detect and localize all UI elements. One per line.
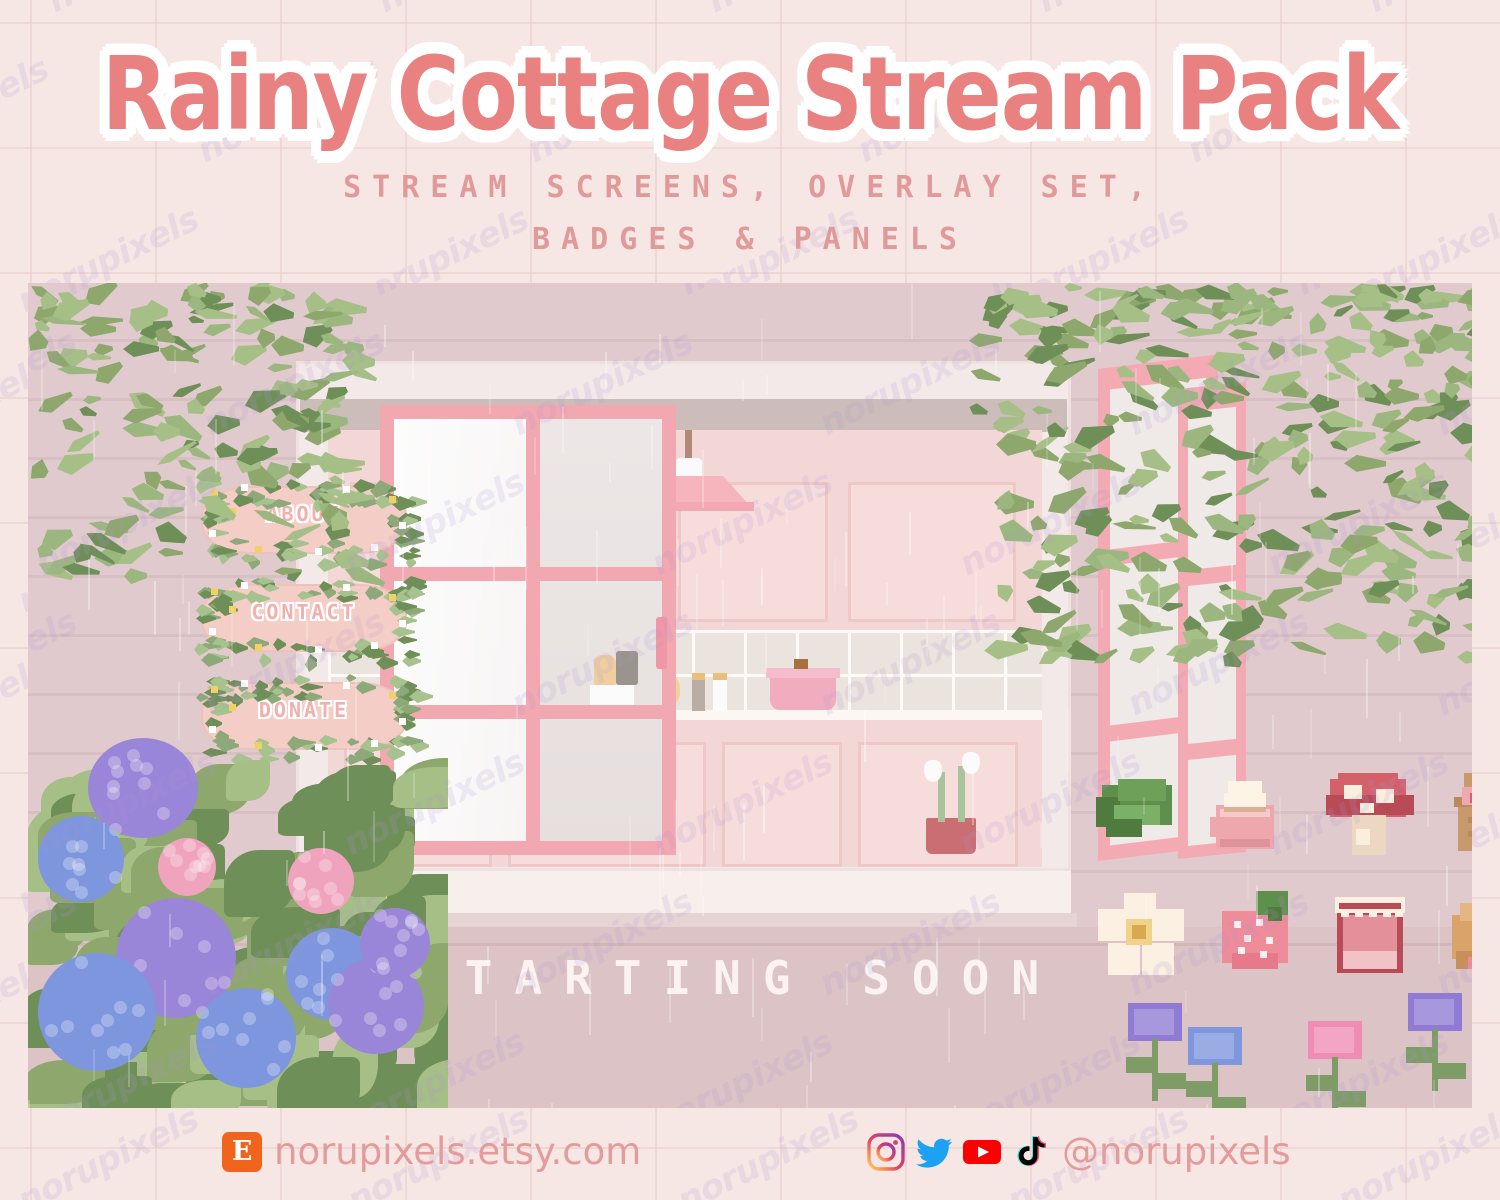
- footer: E norupixels.etsy.com: [0, 1112, 1500, 1200]
- rain-drop: [551, 1103, 553, 1108]
- rain-drop: [700, 855, 702, 894]
- rain-drop: [763, 784, 765, 833]
- rain-drop: [834, 558, 836, 591]
- rain-drop: [936, 938, 938, 996]
- rain-drop: [1457, 543, 1459, 578]
- rain-drop: [342, 472, 344, 494]
- rain-drop: [1412, 576, 1414, 594]
- rain-drop: [174, 350, 176, 373]
- instagram-icon[interactable]: [866, 1132, 906, 1172]
- rain-drop: [28, 1100, 30, 1108]
- rain-drop: [1310, 709, 1312, 759]
- rain-drop: [1139, 557, 1141, 591]
- rain-drop: [215, 419, 217, 474]
- rain-drop: [1027, 502, 1029, 527]
- rain-drop: [185, 486, 187, 534]
- rain-drop: [195, 471, 197, 506]
- rain-drop: [286, 860, 288, 886]
- rain-drop: [321, 955, 323, 1016]
- rain-drop: [943, 595, 945, 639]
- rain-drop: [525, 527, 527, 590]
- twitter-icon[interactable]: [914, 1132, 954, 1172]
- rain-drop: [169, 914, 171, 947]
- rain-drop: [489, 384, 491, 414]
- rain-drop: [488, 1099, 490, 1108]
- rain-drop: [412, 351, 414, 380]
- rain-drop: [742, 380, 744, 401]
- subtitle-line-2: BADGES & PANELS: [0, 222, 1500, 257]
- poster-root: norupixelsnorupixelsnorupixelsnorupixels…: [0, 0, 1500, 1200]
- rain-drop: [786, 495, 788, 525]
- rain-drop: [975, 571, 977, 621]
- rain-drop: [713, 806, 715, 851]
- rain-drop: [355, 679, 357, 741]
- rain-drop: [1300, 312, 1302, 365]
- rain-drop: [1006, 666, 1008, 696]
- rain-drop: [1256, 888, 1258, 917]
- rain-drop: [1157, 667, 1159, 710]
- rain-drop: [103, 823, 105, 849]
- rain-drop: [761, 568, 763, 605]
- subtitle-line-1: STREAM SCREENS, OVERLAY SET,: [0, 170, 1500, 205]
- rain-drop: [886, 583, 888, 605]
- etsy-shop-url[interactable]: norupixels.etsy.com: [274, 1130, 641, 1173]
- rain-drop: [384, 325, 386, 347]
- rain-overlay: [28, 283, 1472, 1108]
- rain-drop: [323, 831, 325, 854]
- rain-drop: [972, 767, 974, 825]
- rain-drop: [810, 1052, 812, 1082]
- rain-drop: [1247, 863, 1249, 899]
- rain-drop: [1067, 707, 1069, 770]
- rain-drop: [1253, 438, 1255, 465]
- rain-drop: [629, 815, 631, 873]
- rain-drop: [154, 581, 156, 635]
- rain-drop: [1438, 910, 1440, 964]
- rain-drop: [402, 546, 404, 581]
- rain-drop: [1446, 866, 1448, 906]
- rain-drop: [1143, 797, 1145, 815]
- rain-drop: [231, 607, 233, 666]
- rain-drop: [845, 532, 847, 586]
- rain-drop: [1101, 590, 1103, 628]
- rain-drop: [1355, 373, 1357, 430]
- rain-drop: [659, 334, 661, 365]
- rain-drop: [980, 605, 982, 642]
- rain-drop: [926, 618, 928, 656]
- rain-drop: [662, 855, 664, 887]
- rain-drop: [702, 896, 704, 916]
- rain-drop: [1185, 991, 1187, 1013]
- rain-drop: [1318, 1068, 1320, 1097]
- rain-drop: [1324, 655, 1326, 674]
- rain-drop: [765, 630, 767, 672]
- rain-drop: [511, 525, 513, 563]
- rain-drop: [1135, 368, 1137, 407]
- rain-drop: [743, 804, 745, 861]
- rain-drop: [1261, 308, 1263, 327]
- rain-drop: [178, 681, 180, 740]
- rain-drop: [306, 619, 308, 674]
- rain-drop: [93, 420, 95, 460]
- rain-drop: [864, 710, 866, 762]
- rain-drop: [41, 350, 43, 410]
- rain-drop: [605, 352, 607, 393]
- rain-drop: [609, 463, 611, 482]
- rain-drop: [413, 773, 415, 798]
- rain-drop: [373, 811, 375, 862]
- stream-scene-preview: ♥: [28, 283, 1472, 1108]
- rain-drop: [1366, 659, 1368, 718]
- rain-drop: [1099, 291, 1101, 352]
- rain-drop: [884, 675, 886, 703]
- rain-drop: [1145, 895, 1147, 920]
- rain-drop: [995, 349, 997, 374]
- rain-drop: [1040, 823, 1042, 848]
- rain-drop: [1265, 542, 1267, 602]
- rain-drop: [233, 304, 235, 365]
- rain-drop: [722, 580, 724, 626]
- rain-drop: [1306, 379, 1308, 401]
- rain-drop: [1158, 568, 1160, 614]
- rain-drop: [1092, 463, 1094, 489]
- rain-drop: [534, 437, 536, 475]
- rain-drop: [347, 748, 349, 801]
- rain-drop: [182, 575, 184, 604]
- rain-drop: [846, 964, 848, 1005]
- rain-drop: [495, 1000, 497, 1044]
- rain-drop: [1306, 815, 1308, 854]
- rain-drop: [1046, 414, 1048, 468]
- rain-drop: [93, 1049, 95, 1081]
- rain-drop: [1427, 767, 1429, 827]
- rain-drop: [761, 319, 763, 360]
- rain-drop: [1272, 715, 1274, 749]
- rain-drop: [321, 410, 323, 448]
- rain-drop: [1327, 364, 1329, 401]
- rain-drop: [164, 980, 166, 1026]
- rain-drop: [500, 802, 502, 839]
- rain-drop: [675, 800, 677, 838]
- rain-drop: [954, 1105, 956, 1108]
- rain-drop: [516, 694, 518, 755]
- rain-drop: [1398, 637, 1400, 661]
- rain-drop: [1308, 461, 1310, 484]
- rain-drop: [909, 512, 911, 555]
- rain-drop: [696, 574, 698, 632]
- rain-drop: [88, 559, 90, 610]
- rain-drop: [179, 618, 181, 651]
- youtube-icon[interactable]: [962, 1132, 1002, 1172]
- rain-drop: [1259, 502, 1261, 543]
- rain-drop: [1159, 378, 1161, 424]
- rain-drop: [487, 946, 489, 984]
- rain-drop: [984, 983, 986, 1034]
- rain-drop: [1279, 797, 1281, 835]
- page-title: Rainy Cottage Stream Pack: [0, 36, 1500, 154]
- rain-drop: [948, 1008, 950, 1063]
- rain-drop: [1137, 410, 1139, 432]
- rain-drop: [1433, 1080, 1435, 1108]
- rain-drop: [651, 425, 653, 470]
- rain-drop: [659, 848, 661, 907]
- rain-drop: [702, 449, 704, 508]
- rain-drop: [978, 937, 980, 964]
- rain-drop: [679, 852, 681, 877]
- rain-drop: [1206, 1104, 1208, 1108]
- rain-drop: [1117, 736, 1119, 766]
- rain-drop: [720, 519, 722, 568]
- rain-drop: [766, 375, 768, 395]
- rain-drop: [562, 407, 564, 453]
- rain-drop: [428, 461, 430, 515]
- rain-drop: [596, 530, 598, 584]
- tiktok-icon[interactable]: [1010, 1132, 1050, 1172]
- rain-drop: [1076, 570, 1078, 630]
- rain-drop: [188, 601, 190, 635]
- rain-drop: [493, 556, 495, 581]
- rain-drop: [677, 539, 679, 586]
- rain-drop: [669, 968, 671, 1023]
- rain-drop: [1231, 564, 1233, 615]
- rain-drop: [1399, 712, 1401, 742]
- etsy-icon[interactable]: E: [222, 1132, 262, 1172]
- rain-drop: [587, 624, 589, 656]
- social-handle: @norupixels: [1062, 1130, 1291, 1173]
- rain-drop: [128, 1054, 130, 1087]
- rain-drop: [1023, 986, 1025, 1020]
- rain-drop: [761, 1008, 763, 1041]
- header: Rainy Cottage Stream Pack STREAM SCREENS…: [0, 0, 1500, 280]
- rain-drop: [806, 1085, 808, 1108]
- rain-drop: [752, 958, 754, 1017]
- rain-drop: [911, 284, 913, 339]
- rain-drop: [589, 974, 591, 1035]
